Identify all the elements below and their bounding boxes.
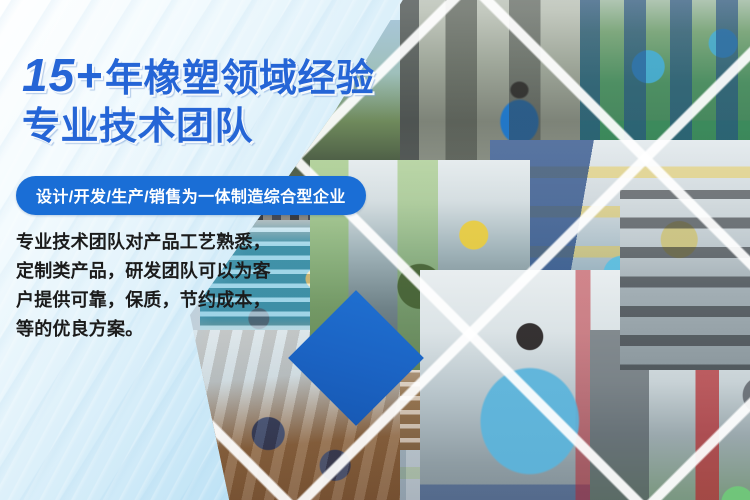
headline: 15+年橡塑领域经验 专业技术团队 — [22, 52, 422, 147]
collage-tile-operator-keyboard — [620, 190, 750, 370]
headline-line-1-rest: 年橡塑领域经验 — [105, 58, 375, 100]
company-banner: 15+年橡塑领域经验 专业技术团队 设计/开发/生产/销售为一体制造综合型企业 … — [0, 0, 750, 500]
body-paragraph: 专业技术团队对产品工艺熟悉，定制类产品，研发团队可以为客户提供可靠，保质，节约成… — [16, 228, 278, 345]
copy-block: 15+年橡塑领域经验 专业技术团队 设计/开发/生产/销售为一体制造综合型企业 … — [0, 0, 420, 500]
years-number: 15+ — [22, 49, 105, 101]
scope-pill-badge: 设计/开发/生产/销售为一体制造综合型企业 — [16, 176, 366, 215]
headline-line-2: 专业技术团队 — [22, 108, 422, 148]
photo-operator-keyboard — [620, 190, 750, 370]
headline-line-1: 15+年橡塑领域经验 — [22, 52, 422, 100]
